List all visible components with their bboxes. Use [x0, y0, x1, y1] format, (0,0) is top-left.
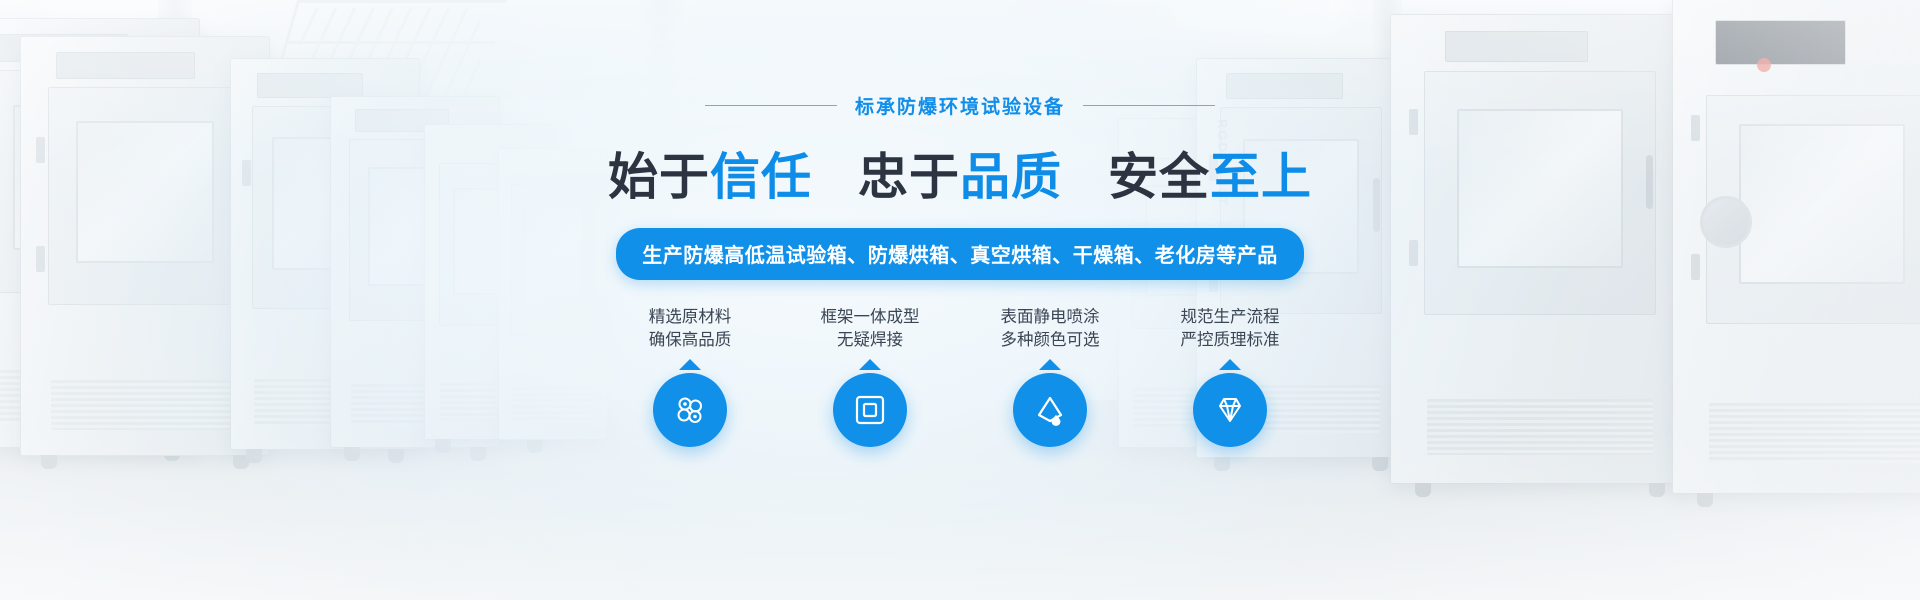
feature-3-arrow [1039, 359, 1061, 370]
eyebrow-text: 标承防爆环境试验设备 [855, 92, 1065, 119]
beads-icon [671, 391, 709, 429]
headline-phrase-1: 始于信任 [608, 137, 812, 209]
feature-2-arrow [859, 359, 881, 370]
feature-item-frame[interactable]: 框架一体成型 无疑焊接 [804, 306, 936, 447]
feature-1-line2: 确保高品质 [649, 329, 732, 352]
feature-4-line2: 严控质理标准 [1181, 329, 1280, 352]
headline: 始于信任 忠于品质 安全至上 [608, 137, 1312, 209]
feature-4-arrow [1219, 359, 1241, 370]
headline-phrase-2: 忠于品质 [858, 137, 1062, 209]
feature-3-line1: 表面静电喷涂 [1001, 306, 1100, 329]
feature-2-circle[interactable] [833, 373, 907, 447]
product-list-pill: 生产防爆高低温试验箱、防爆烘箱、真空烘箱、干燥箱、老化房等产品 [616, 228, 1304, 280]
headline-3-dark: 安全 [1108, 149, 1210, 205]
feature-1-arrow [679, 359, 701, 370]
headline-2-blue: 品质 [960, 149, 1062, 205]
feature-3-circle[interactable] [1013, 373, 1087, 447]
eyebrow-rule-left [705, 105, 837, 106]
hero-banner: RGDJ-4001 RGD-700 RGDJ-180T [0, 0, 1920, 600]
eyebrow-rule-right [1083, 105, 1215, 106]
frame-box-icon [852, 392, 888, 428]
headline-2-dark: 忠于 [858, 149, 960, 205]
diamond-icon [1211, 391, 1249, 429]
feature-item-coating[interactable]: 表面静电喷涂 多种颜色可选 [984, 306, 1116, 447]
headline-phrase-3: 安全至上 [1108, 137, 1312, 209]
feature-2-line2: 无疑焊接 [837, 329, 903, 352]
feature-1-line1: 精选原材料 [649, 306, 732, 329]
feature-2-line1: 框架一体成型 [821, 306, 920, 329]
feature-list: 精选原材料 确保高品质 [624, 306, 1296, 447]
paint-drop-icon [1031, 391, 1069, 429]
headline-3-blue: 至上 [1210, 149, 1312, 205]
feature-4-circle[interactable] [1193, 373, 1267, 447]
headline-1-dark: 始于 [608, 149, 710, 205]
feature-item-process[interactable]: 规范生产流程 严控质理标准 [1164, 306, 1296, 447]
feature-item-materials[interactable]: 精选原材料 确保高品质 [624, 306, 756, 447]
headline-1-blue: 信任 [710, 149, 812, 205]
feature-4-line1: 规范生产流程 [1181, 306, 1280, 329]
eyebrow: 标承防爆环境试验设备 [705, 92, 1215, 119]
feature-1-circle[interactable] [653, 373, 727, 447]
banner-content: 标承防爆环境试验设备 始于信任 忠于品质 安全至上 生产防爆高低温试验箱、防爆烘… [0, 0, 1920, 600]
feature-3-line2: 多种颜色可选 [1001, 329, 1100, 352]
